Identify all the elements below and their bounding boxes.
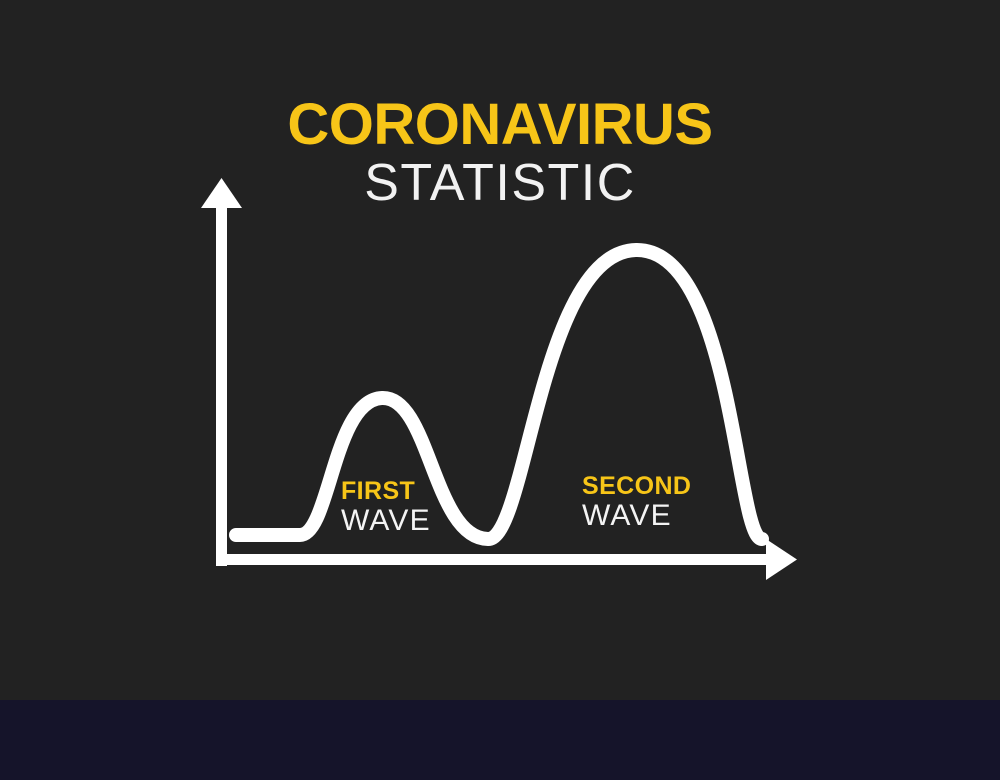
x-axis [216,539,797,580]
wave-chart [0,0,1000,700]
infection-curve [236,250,762,539]
y-axis [201,178,242,566]
watermark-footer: VectorStock® VectorStock.com/43753433 [0,700,1000,780]
poster-canvas: CORONAVIRUS STATISTIC FIRST WAVE SECOND … [0,0,1000,780]
